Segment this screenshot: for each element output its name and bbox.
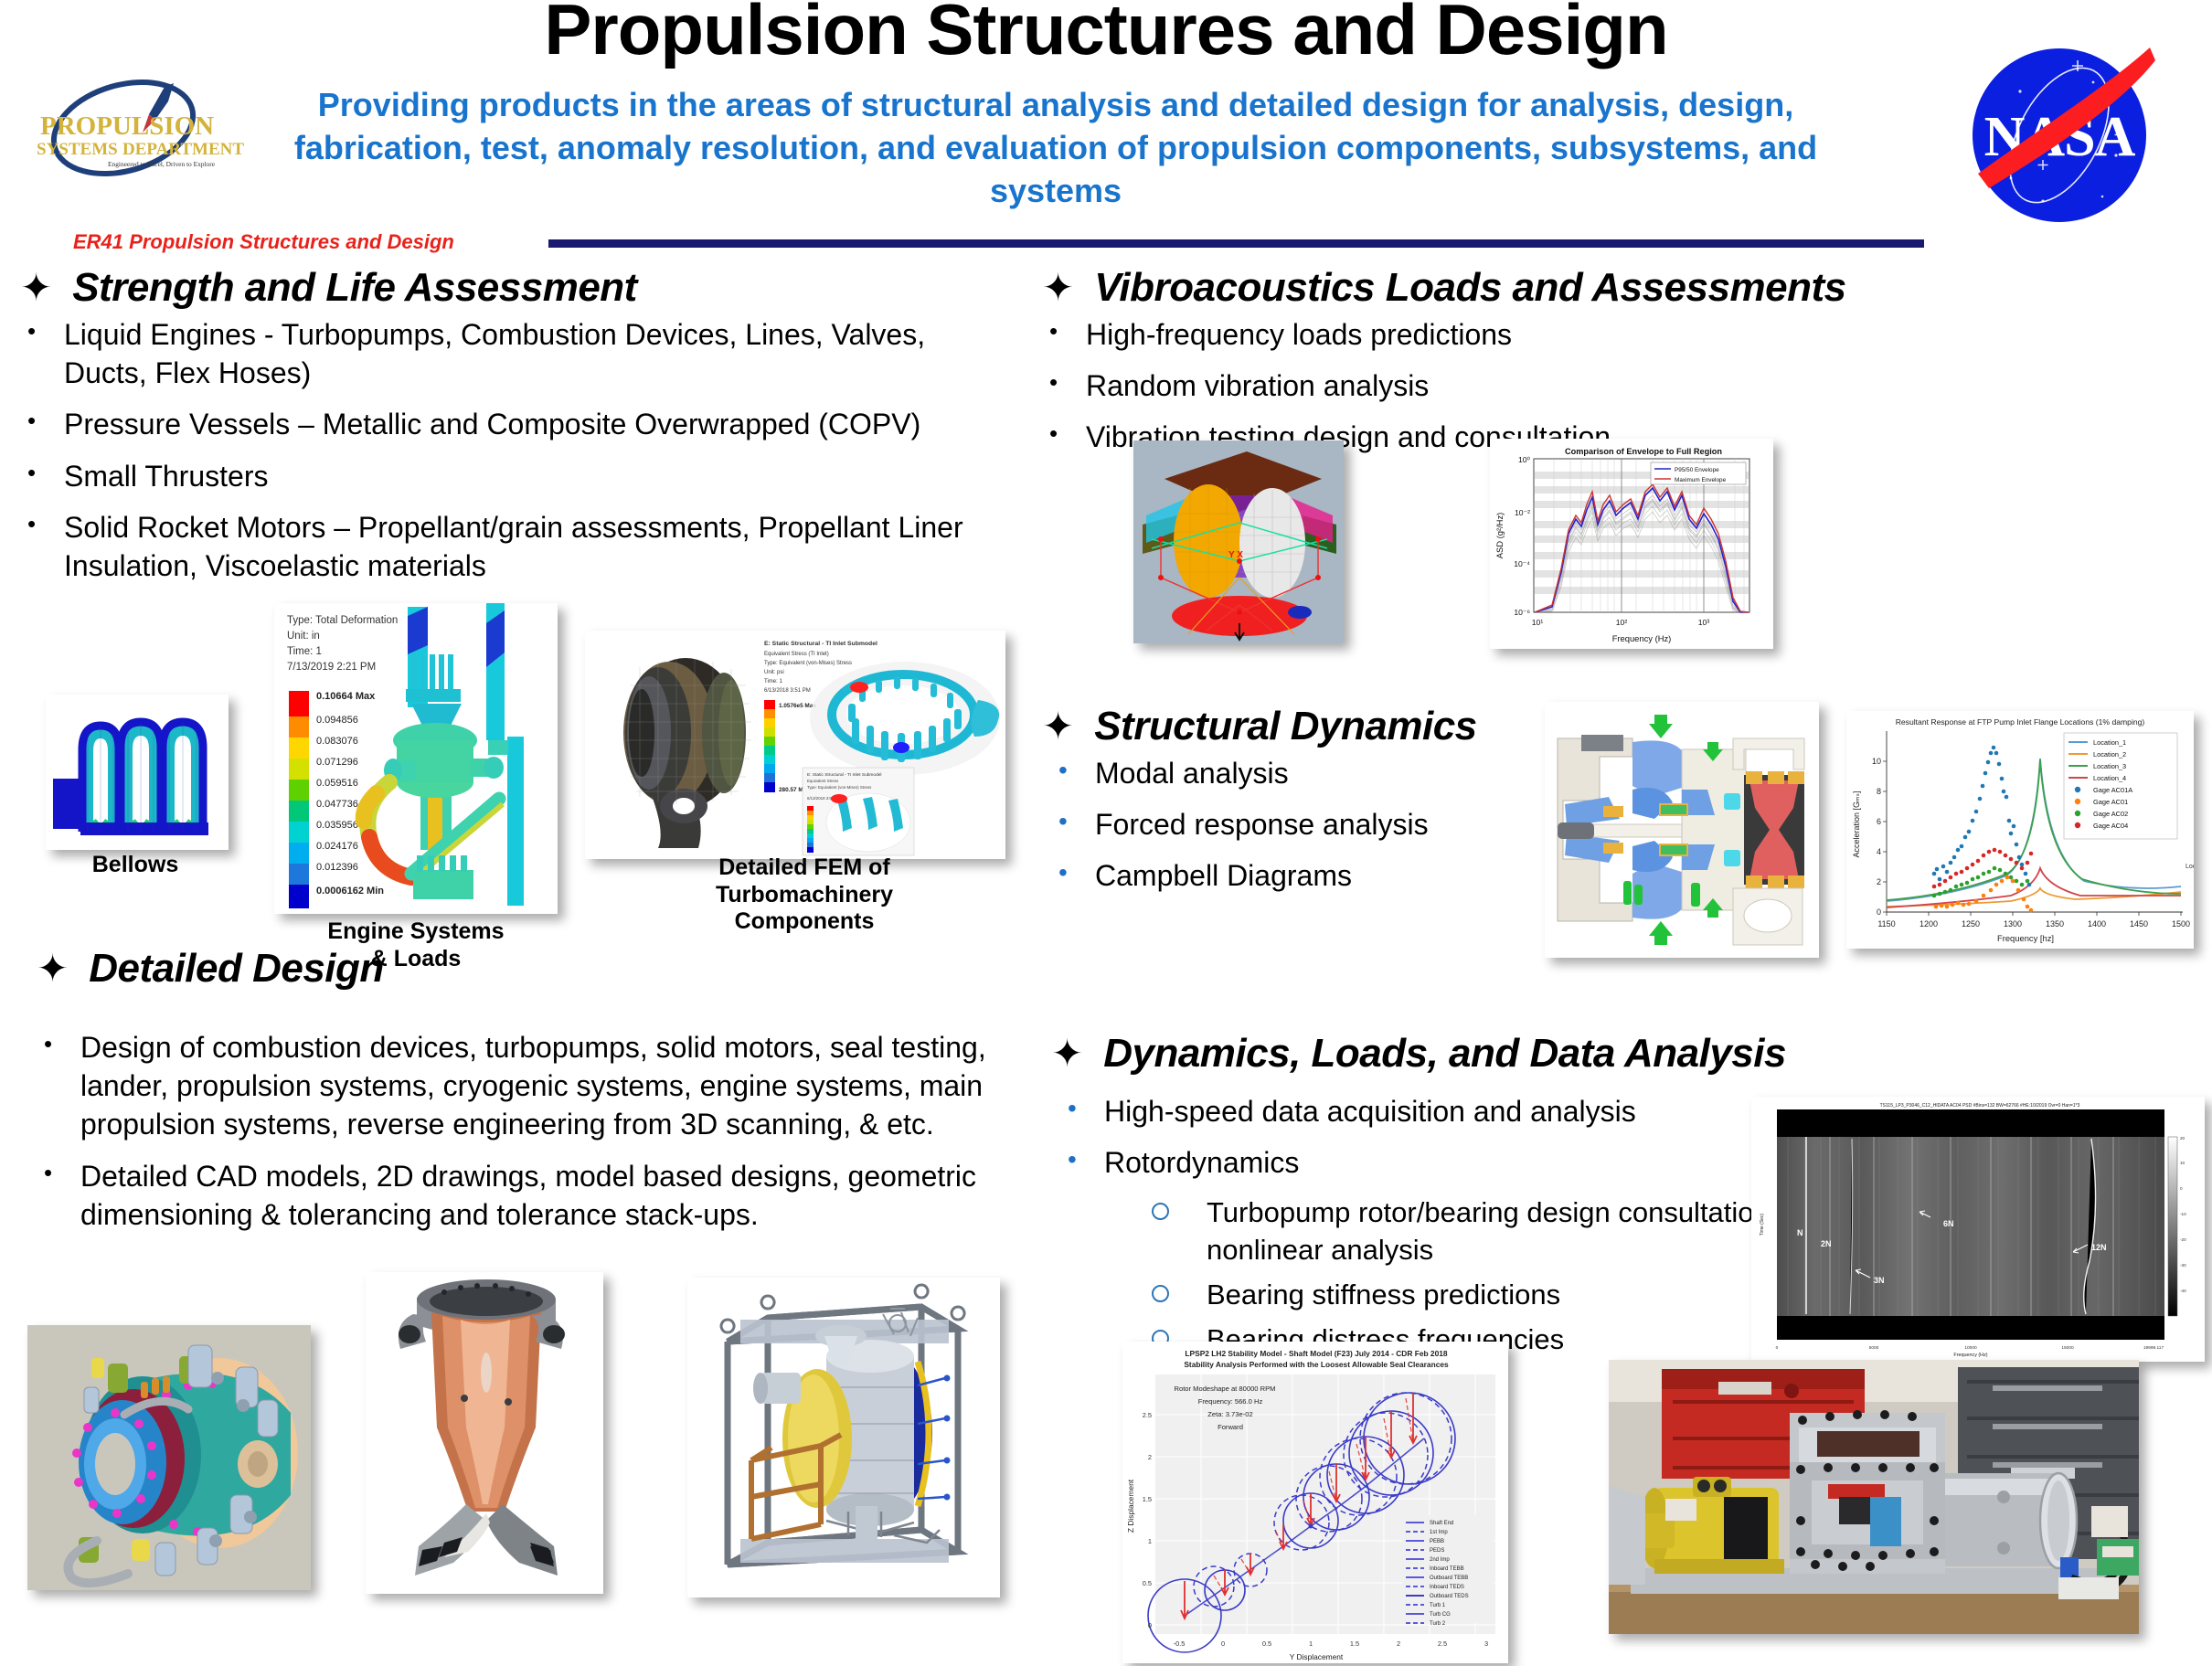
plot-annotation: Frequency: 566.0 Hz xyxy=(1198,1397,1263,1406)
svg-text:-30: -30 xyxy=(2180,1263,2186,1268)
legend-value: 0.047736 xyxy=(316,799,358,810)
y-tick: 10⁻⁶ xyxy=(1514,608,1530,617)
chart-title-line2: Stability Analysis Performed with the Lo… xyxy=(1184,1360,1449,1369)
legend-value: 0.012396 xyxy=(316,862,358,873)
svg-text:Y X: Y X xyxy=(1228,550,1243,560)
y-tick: 2 xyxy=(1148,1453,1152,1461)
figure-caption-detailed-fem: Detailed FEM of Turbomachinery Component… xyxy=(658,854,951,936)
rotordynamics-test-rig-photo xyxy=(1609,1360,2139,1634)
high-speed-data-waterfall-spectrogram: TS115_LP3_P3046_C12_HIDATA AC04 PSD #Bin… xyxy=(1751,1097,2205,1362)
ansys-time-line: Time: 1 xyxy=(287,646,322,657)
list-item-text: Small Thrusters xyxy=(64,457,268,495)
x-tick: 3 xyxy=(1484,1639,1488,1648)
engine-system-fem-image: Type: Total Deformation Unit: in Time: 1… xyxy=(274,603,558,914)
poster-subtitle: Providing products in the areas of struc… xyxy=(233,84,1878,212)
legend-value: 0.0006162 Min xyxy=(316,886,384,897)
bullet-dot-icon: • xyxy=(1042,366,1086,398)
caption-line: Engine Systems xyxy=(265,918,567,946)
y-tick: 8 xyxy=(1877,787,1881,796)
y-tick: 10⁻⁴ xyxy=(1514,559,1530,568)
turbomachinery-fem-mesh-image: E: Static Structural - TI Inlet Submodel… xyxy=(585,631,1005,859)
y-tick: 0.5 xyxy=(1143,1579,1152,1587)
organization-label: ER41 Propulsion Structures and Design xyxy=(73,230,454,254)
sub-list-item: Turbopump rotor/bearing design consultat… xyxy=(1144,1194,1828,1269)
y-tick: 1 xyxy=(1148,1537,1152,1545)
x-tick: 1350 xyxy=(2046,919,2064,929)
x-tick: 1250 xyxy=(1962,919,1980,929)
psd-logo-line2b: DEPARTMENT xyxy=(122,140,244,159)
x-tick: 1500 xyxy=(2172,919,2190,929)
bullet-list-strength: • Liquid Engines - Turbopumps, Combustio… xyxy=(20,315,989,598)
list-item: • Forced response analysis xyxy=(1051,805,1563,844)
x-tick: 1.5 xyxy=(1350,1639,1359,1648)
ansys-date-line: 7/13/2019 2:21 PM xyxy=(287,662,376,673)
section-title-text: Vibroacoustics Loads and Assessments xyxy=(1094,265,1845,311)
caption-line: Components xyxy=(658,908,951,936)
fem-inset-max: 1.0576e5 Max xyxy=(779,703,816,709)
fem-inset-sub5: 6/13/2018 3:51 PM xyxy=(764,688,811,694)
list-item: • Small Thrusters xyxy=(20,457,989,495)
rotordynamics-stability-modeshape-chart: LPSP2 LH2 Stability Model - Shaft Model … xyxy=(1122,1342,1508,1663)
section-title-text: Structural Dynamics xyxy=(1094,704,1476,749)
legend-value: 0.083076 xyxy=(316,736,358,747)
page-title: Propulsion Structures and Design xyxy=(302,0,1910,68)
list-item: • Detailed CAD models, 2D drawings, mode… xyxy=(37,1157,1010,1234)
legend-label: PEDS xyxy=(1430,1548,1444,1554)
x-tick: 1450 xyxy=(2130,919,2148,929)
x-tick: -0.5 xyxy=(1174,1639,1186,1648)
bullet-dot-icon: • xyxy=(20,405,64,436)
legend-value: 0.024176 xyxy=(316,841,358,852)
legend-label: Location_3 xyxy=(2093,762,2126,770)
legend-label: Outboard TEBB xyxy=(1430,1576,1468,1581)
spectrogram-annotation: 6N xyxy=(1943,1219,1954,1228)
list-item-text: Forced response analysis xyxy=(1095,805,1429,844)
bullet-dot-icon: • xyxy=(37,1028,80,1059)
bellows-fem-contour-image xyxy=(46,695,229,850)
plot-annotation: Forward xyxy=(1218,1423,1243,1431)
legend-label: Location_2 xyxy=(2093,750,2126,759)
vibroacoustics-sea-model-image: Y X xyxy=(1133,440,1344,643)
caption-line: Detailed FEM of xyxy=(658,854,951,882)
x-tick: 10² xyxy=(1616,618,1628,627)
structural-dynamics-ftp-response-chart: Resultant Response at FTP Pump Inlet Fla… xyxy=(1846,711,2194,949)
x-tick: 1200 xyxy=(1920,919,1938,929)
legend-label: Turb 1 xyxy=(1430,1603,1446,1608)
list-item-text: Modal analysis xyxy=(1095,754,1289,792)
x-tick: 2 xyxy=(1397,1639,1400,1648)
legend-label: PEBB xyxy=(1430,1539,1444,1544)
svg-text:20: 20 xyxy=(2180,1136,2185,1141)
y-tick: 2 xyxy=(1877,877,1881,886)
list-item-text: High-frequency loads predictions xyxy=(1086,315,1512,354)
x-tick: 0.5 xyxy=(1262,1639,1271,1648)
x-tick: 1300 xyxy=(2004,919,2022,929)
x-tick: 19999.117 xyxy=(2143,1345,2164,1351)
list-item: • Liquid Engines - Turbopumps, Combustio… xyxy=(20,315,989,392)
legend-label: P95/50 Envelope xyxy=(1675,467,1719,473)
legend-label: Location_4 xyxy=(2093,774,2126,782)
list-item: • Pressure Vessels – Metallic and Compos… xyxy=(20,405,989,443)
y-tick: 2.5 xyxy=(1143,1411,1152,1419)
diamond-bullet-icon: ✦ xyxy=(1042,707,1074,746)
y-axis-label: ASD (g²/Hz) xyxy=(1494,513,1505,559)
legend-label: Inboard TEDS xyxy=(1430,1585,1464,1590)
bullet-list-detailed-design: • Design of combustion devices, turbopum… xyxy=(37,1028,1010,1247)
legend-value: 0.059516 xyxy=(316,778,358,789)
bullet-dot-icon: • xyxy=(20,508,64,539)
plot-annotation: Zeta: 3.73e-02 xyxy=(1207,1410,1252,1418)
x-tick: 0 xyxy=(1221,1639,1225,1648)
diamond-bullet-icon: ✦ xyxy=(1042,269,1074,307)
list-item-text: Campbell Diagrams xyxy=(1095,856,1352,895)
y-tick: 1.5 xyxy=(1143,1495,1152,1503)
section-title-text: Strength and Life Assessment xyxy=(72,265,637,311)
legend-label: Shaft End xyxy=(1430,1521,1453,1526)
y-axis-label: Time (Sec) xyxy=(1760,1214,1765,1236)
chart-title: Comparison of Envelope to Full Region xyxy=(1565,447,1722,456)
list-item: • Random vibration analysis xyxy=(1042,366,1865,405)
list-item-text: Detailed CAD models, 2D drawings, model … xyxy=(80,1157,1010,1234)
bullet-dot-icon: • xyxy=(1042,315,1086,346)
x-tick: 10³ xyxy=(1698,618,1710,627)
spectrogram-annotation: N xyxy=(1797,1228,1803,1237)
sub-list-item: Bearing stiffness predictions xyxy=(1144,1277,1828,1314)
bullet-list-structural-dynamics: • Modal analysis • Forced response analy… xyxy=(1051,754,1563,908)
vibroacoustics-asd-envelope-chart: Comparison of Envelope to Full Region P9… xyxy=(1490,439,1773,649)
legend-label: Outboard TEDS xyxy=(1430,1594,1469,1599)
chart-title-line1: LPSP2 LH2 Stability Model - Shaft Model … xyxy=(1185,1349,1447,1358)
x-axis-label: Frequency [hz] xyxy=(1997,933,2054,943)
x-axis-label: Frequency (Hz) xyxy=(1953,1353,1987,1358)
legend-label: Gage AC04 xyxy=(2093,822,2128,830)
list-item-text: Rotordynamics xyxy=(1104,1143,1299,1182)
bullet-dot-icon: • xyxy=(1051,754,1095,788)
list-item: • Rotordynamics xyxy=(1060,1143,1828,1182)
nasa-meatball-logo: NASA xyxy=(1956,27,2166,238)
svg-text:10: 10 xyxy=(2180,1161,2185,1165)
spectrogram-annotation: 12N xyxy=(2091,1243,2107,1252)
y-axis-label: Acceleration [Gₘₛ] xyxy=(1852,791,1861,858)
fem-inset-colorbar xyxy=(764,700,775,792)
x-tick: 1400 xyxy=(2088,919,2106,929)
list-item: • Solid Rocket Motors – Propellant/grain… xyxy=(20,508,989,585)
diamond-bullet-icon: ✦ xyxy=(37,950,69,988)
svg-text:-20: -20 xyxy=(2180,1237,2186,1242)
legend-label: 1st Imp xyxy=(1430,1530,1448,1535)
sub-list-item-text: Turbopump rotor/bearing design consultat… xyxy=(1207,1194,1828,1269)
cad-test-stand-image xyxy=(687,1278,1000,1597)
section-title-text: Detailed Design xyxy=(89,946,384,992)
psd-logo-tagline: Engineered to Excel, Driven to Explore xyxy=(108,160,216,168)
turbopump-cutaway-image xyxy=(1545,702,1819,958)
legend-value: 0.071296 xyxy=(316,757,358,768)
section-heading-dynamics-loads: ✦ Dynamics, Loads, and Data Analysis xyxy=(1051,1031,1786,1077)
cad-copper-nozzle-image xyxy=(366,1272,603,1594)
bullet-dot-icon: • xyxy=(20,315,64,346)
list-item-text: Random vibration analysis xyxy=(1086,366,1429,405)
section-heading-strength: ✦ Strength and Life Assessment xyxy=(20,265,637,311)
y-tick: 10⁻² xyxy=(1515,508,1530,517)
y-axis-label: Z Displacement xyxy=(1126,1479,1135,1533)
psd-logo-line1: PROPULSION xyxy=(40,111,214,141)
hollow-bullet-icon xyxy=(1144,1277,1207,1309)
bullet-dot-icon: • xyxy=(20,457,64,488)
legend-value: 0.035956 xyxy=(316,820,358,831)
legend-label: Gage AC01A xyxy=(2093,786,2132,794)
fem-inset-sub1: Equivalent Stress (TI Inlet) xyxy=(764,652,829,657)
legend-label: Gage AC01 xyxy=(2093,798,2128,806)
fem-inset-header: E: Static Structural - TI Inlet Submodel xyxy=(764,641,877,647)
section-title-text: Dynamics, Loads, and Data Analysis xyxy=(1103,1031,1786,1077)
section-heading-structural-dynamics: ✦ Structural Dynamics xyxy=(1042,704,1477,749)
figure-caption-bellows: Bellows xyxy=(35,852,236,879)
legend-value: 0.10664 Max xyxy=(316,691,376,702)
diamond-bullet-icon: ✦ xyxy=(1051,1035,1083,1073)
svg-text:Type: Equivalent (von-Mises) S: Type: Equivalent (von-Mises) Stress xyxy=(807,785,872,790)
x-tick: 1150 xyxy=(1877,919,1895,929)
x-tick: 10¹ xyxy=(1532,618,1544,627)
y-tick: 10 xyxy=(1872,757,1881,766)
svg-text:E: Static Structural - TI Inle: E: Static Structural - TI Inlet Submodel xyxy=(807,772,882,778)
x-tick: 2.5 xyxy=(1438,1639,1447,1648)
sub-list-item-text: Bearing stiffness predictions xyxy=(1207,1277,1560,1314)
legend-label: Inboard TEBB xyxy=(1430,1566,1464,1572)
legend-label: Turb 2 xyxy=(1430,1621,1446,1627)
svg-text:0: 0 xyxy=(2180,1186,2183,1191)
list-item: • Modal analysis xyxy=(1051,754,1563,792)
legend-label: Turb CG xyxy=(1430,1612,1451,1618)
fem-inset-sub4: Time: 1 xyxy=(764,679,782,684)
bullet-list-dynamics-loads: • High-speed data acquisition and analys… xyxy=(1060,1092,1828,1366)
cad-valve-assembly-image xyxy=(27,1325,311,1590)
y-tick: 6 xyxy=(1877,817,1881,826)
y-tick: 0 xyxy=(1877,907,1881,917)
fem-inset-sub3: Unit: psi xyxy=(764,670,784,675)
header-divider-rule xyxy=(548,239,1924,248)
legend-label: 2nd Imp xyxy=(1430,1557,1450,1563)
ansys-legend-colorbar xyxy=(289,691,309,908)
x-tick: 0 xyxy=(1776,1345,1779,1351)
bullet-dot-icon: • xyxy=(1051,856,1095,890)
list-item: • Campbell Diagrams xyxy=(1051,856,1563,895)
fem-inset-sub2: Type: Equivalent (von-Mises) Stress xyxy=(764,661,852,666)
x-tick: 10000 xyxy=(1964,1345,1977,1351)
y-tick: 0 xyxy=(1148,1621,1152,1629)
chart-edge-annotation: Loca xyxy=(2185,864,2194,870)
bullet-dot-icon: • xyxy=(1042,418,1086,449)
legend-label: Location_1 xyxy=(2093,738,2126,747)
bullet-dot-icon: • xyxy=(1051,805,1095,839)
chart-title: Resultant Response at FTP Pump Inlet Fla… xyxy=(1896,717,2145,727)
hollow-bullet-icon xyxy=(1144,1194,1207,1226)
list-item: • Design of combustion devices, turbopum… xyxy=(37,1028,1010,1144)
section-heading-detailed-design: ✦ Detailed Design xyxy=(37,946,384,992)
x-axis-label: Y Displacement xyxy=(1290,1652,1344,1661)
ansys-type-line: Type: Total Deformation xyxy=(287,615,398,626)
svg-text:-40: -40 xyxy=(2180,1289,2186,1293)
section-heading-vibroacoustics: ✦ Vibroacoustics Loads and Assessments xyxy=(1042,265,1846,311)
list-item: • High-frequency loads predictions xyxy=(1042,315,1865,354)
list-item-text: High-speed data acquisition and analysis xyxy=(1104,1092,1636,1130)
list-item-text: Liquid Engines - Turbopumps, Combustion … xyxy=(64,315,989,392)
y-tick: 10⁰ xyxy=(1518,455,1531,464)
svg-text:-10: -10 xyxy=(2180,1212,2186,1216)
caption-line: Turbomachinery xyxy=(658,882,951,909)
x-axis-label: Frequency (Hz) xyxy=(1612,633,1672,643)
ansys-unit-line: Unit: in xyxy=(287,631,320,642)
spectrogram-title: TS115_LP3_P3046_C12_HIDATA AC04 PSD #Bin… xyxy=(1880,1103,2080,1109)
bullet-dot-icon: • xyxy=(1060,1092,1104,1126)
x-tick: 1 xyxy=(1309,1639,1313,1648)
diamond-bullet-icon: ✦ xyxy=(20,269,52,307)
bullet-dot-icon: • xyxy=(37,1157,80,1188)
list-item-text: Design of combustion devices, turbopumps… xyxy=(80,1028,1010,1144)
x-tick: 15000 xyxy=(2061,1345,2074,1351)
list-item: • High-speed data acquisition and analys… xyxy=(1060,1092,1828,1130)
psd-logo-line2a: SYSTEMS xyxy=(37,140,118,159)
x-tick: 5000 xyxy=(1869,1345,1879,1351)
poster-header: PROPULSION SYSTEMS DEPARTMENT Engineered… xyxy=(0,0,2212,256)
legend-label: Maximum Envelope xyxy=(1675,477,1727,483)
bullet-dot-icon: • xyxy=(1060,1143,1104,1177)
spectrogram-annotation: 2N xyxy=(1821,1239,1832,1248)
legend-label: Gage AC02 xyxy=(2093,810,2128,818)
legend-value: 0.094856 xyxy=(316,715,358,726)
plot-annotation: Rotor Modeshape at 80000 RPM xyxy=(1174,1385,1275,1393)
svg-text:Equivalent Stress: Equivalent Stress xyxy=(807,779,839,783)
propulsion-systems-department-logo: PROPULSION SYSTEMS DEPARTMENT Engineered… xyxy=(27,78,247,178)
spectrogram-annotation: 3N xyxy=(1874,1276,1885,1285)
list-item-text: Pressure Vessels – Metallic and Composit… xyxy=(64,405,920,443)
y-tick: 4 xyxy=(1877,847,1881,856)
list-item-text: Solid Rocket Motors – Propellant/grain a… xyxy=(64,508,989,585)
